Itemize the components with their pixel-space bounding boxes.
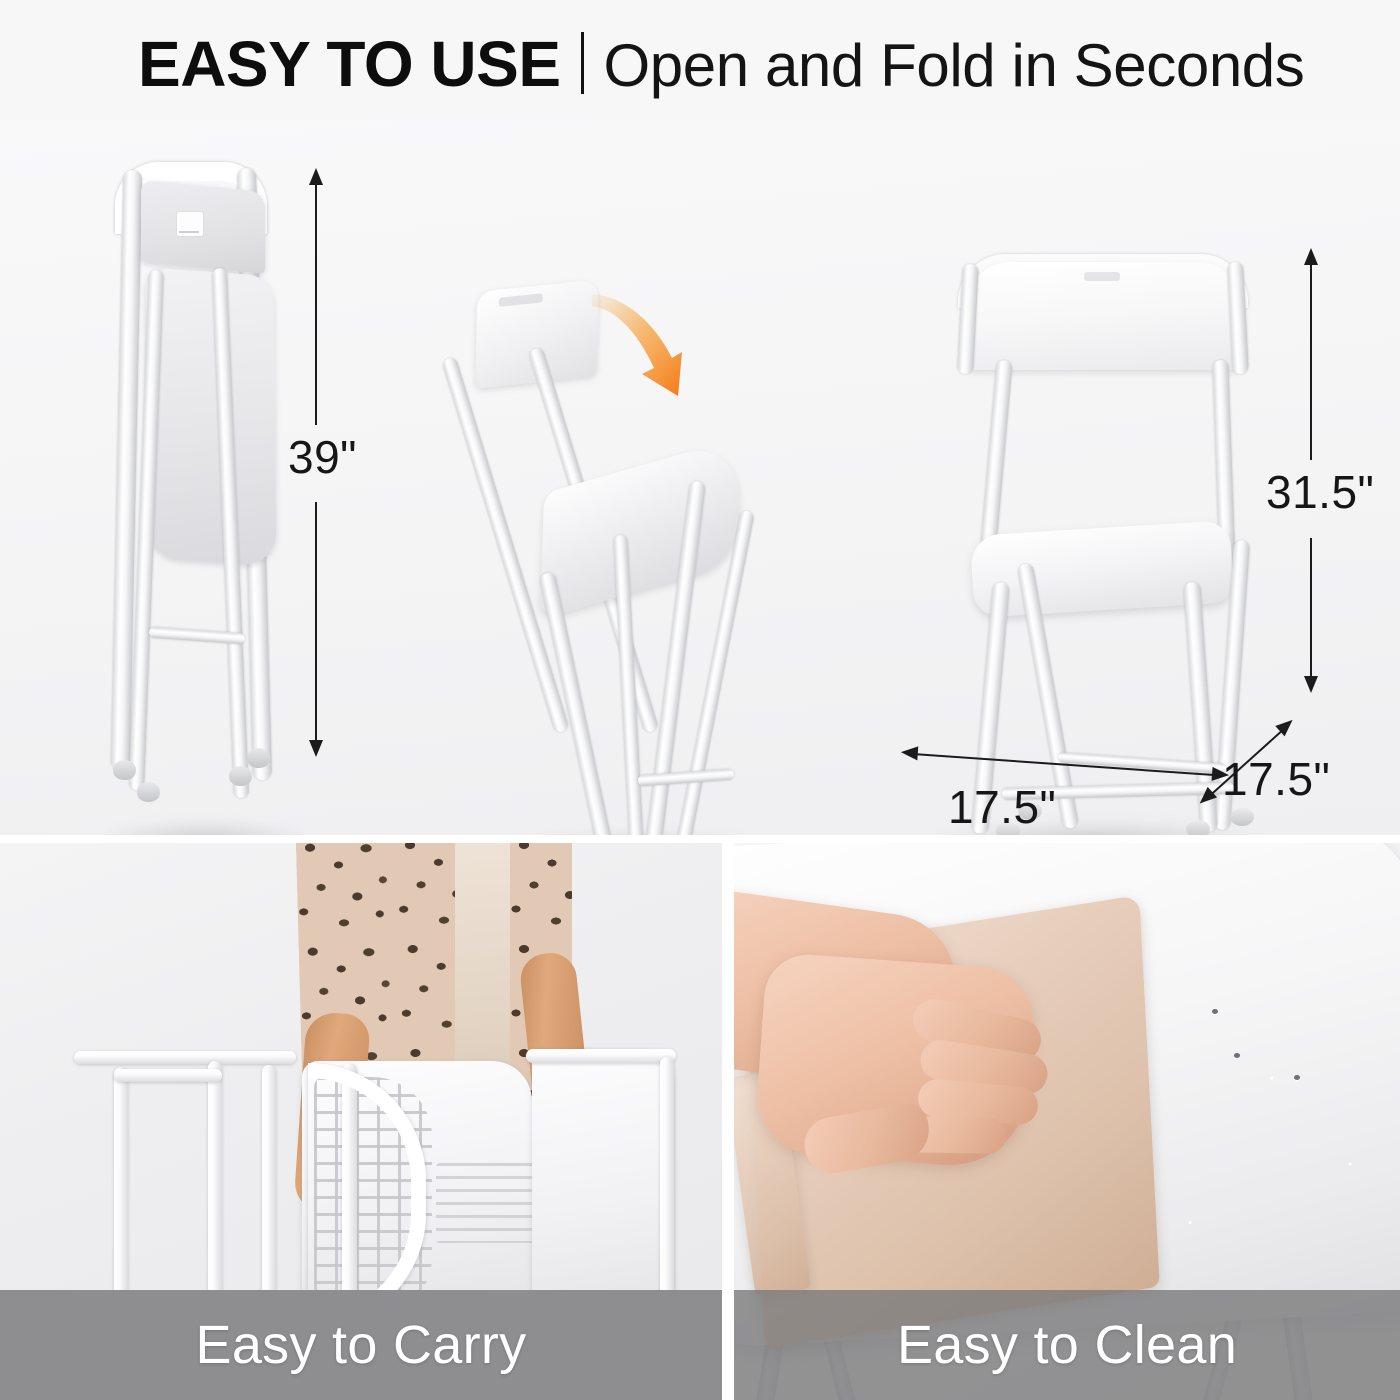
seat-vent-hole-2 <box>1234 1053 1240 1058</box>
chair-open-foot-2 <box>1186 820 1210 835</box>
chair-label-sticker <box>177 212 203 236</box>
chair-mid-crossbar <box>638 769 735 787</box>
chair-folded-foot-3 <box>229 766 252 786</box>
dimension-depth-label: 17.5" <box>1222 752 1330 806</box>
easy-to-carry-caption: Easy to Carry <box>196 1318 527 1372</box>
easy-to-clean-panel: Easy to Clean <box>734 843 1400 1400</box>
header-text-group: EASY TO USE Open and Fold in Seconds <box>138 24 1304 96</box>
header-divider <box>581 32 584 94</box>
easy-to-carry-caption-band: Easy to Carry <box>0 1290 722 1400</box>
chair-folded-foot-4 <box>247 748 270 768</box>
carry-backrest-rail-top <box>526 1049 676 1063</box>
chair-folded-foot-1 <box>113 760 136 780</box>
easy-to-clean-caption-band: Easy to Clean <box>734 1290 1400 1400</box>
seat-vent-hole-3 <box>1294 1075 1300 1080</box>
chair-open-backrest <box>966 262 1242 370</box>
carry-leg-bar-1 <box>74 1051 296 1064</box>
chair-folded-backrest <box>141 180 265 274</box>
easy-to-clean-caption: Easy to Clean <box>897 1318 1237 1372</box>
chair-open-post-left <box>979 360 1012 561</box>
chair-folded-shadow <box>95 820 315 835</box>
dimension-seat-height-label: 31.5" <box>1266 465 1374 519</box>
folding-sequence-panel: 39" <box>0 120 1400 835</box>
chair-folded-closed <box>95 160 305 800</box>
dimension-folded-height-label: 39" <box>288 430 357 484</box>
carry-leg-bar-5 <box>114 1069 222 1082</box>
easy-to-carry-panel: Easy to Carry <box>0 843 722 1400</box>
chair-folded-foot-2 <box>137 782 160 802</box>
header-bold-title: EASY TO USE <box>138 32 561 96</box>
fold-arrow-top-icon <box>590 280 720 430</box>
seat-vent-hole-1 <box>1212 1009 1218 1014</box>
chair-folded-seat <box>145 268 276 567</box>
header-subtitle: Open and Fold in Seconds <box>604 36 1305 96</box>
dimension-width-label: 17.5" <box>948 780 1056 834</box>
infographic-root: EASY TO USE Open and Fold in Seconds <box>0 0 1400 1400</box>
header-banner: EASY TO USE Open and Fold in Seconds <box>0 0 1400 120</box>
